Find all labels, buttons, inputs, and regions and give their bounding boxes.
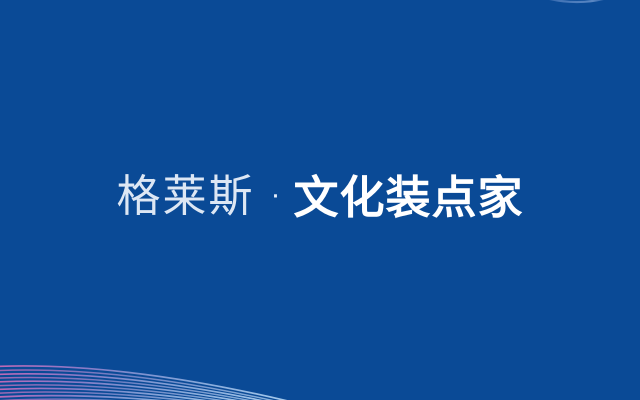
presentation-slide: 格莱斯 · 文化装点家: [0, 0, 640, 400]
headline-row: 格莱斯 · 文化装点家: [116, 175, 523, 220]
headline-separator-dot: ·: [254, 180, 293, 210]
brand-tagline: 文化装点家: [293, 175, 523, 220]
headline-block: 格莱斯 · 文化装点家: [0, 0, 640, 400]
brand-name: 格莱斯: [116, 175, 254, 219]
